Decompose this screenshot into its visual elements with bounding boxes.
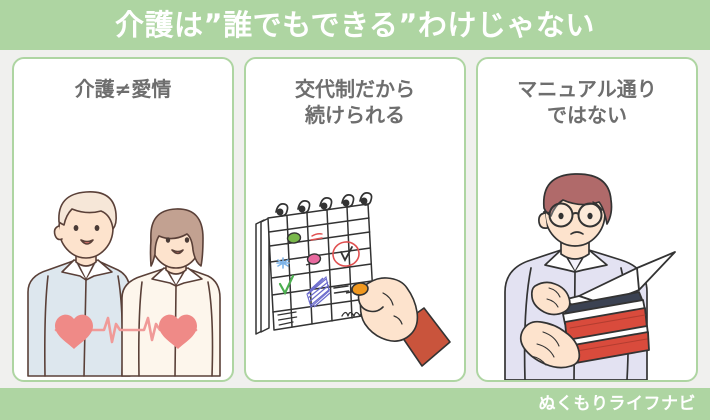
- footer-bar: ぬくもりライフナビ: [0, 388, 710, 420]
- card-title: マニュアル通り ではない: [511, 77, 662, 128]
- couple-with-hearts-ecg-illustration: [18, 180, 228, 380]
- card-illustration-man-books: [478, 128, 696, 380]
- brand-name: ぬくもりライフナビ: [539, 396, 697, 413]
- card-title: 交代制だから 続けられる: [289, 77, 421, 128]
- page-title: 介護は”誰でもできる”わけじゃない: [115, 11, 595, 40]
- man-with-glasses-holding-books-illustration: [487, 168, 687, 380]
- cards-row: 介護≠愛情: [0, 50, 710, 388]
- card-illustration-calendar: [246, 128, 464, 380]
- card-caregiving-not-love: 介護≠愛情: [12, 57, 234, 382]
- poster-root: 介護は”誰でもできる”わけじゃない 介護≠愛情: [0, 0, 710, 420]
- card-shift-system: 交代制だから 続けられる: [244, 57, 466, 382]
- header-banner: 介護は”誰でもできる”わけじゃない: [0, 0, 710, 50]
- card-illustration-couple: [14, 103, 232, 380]
- card-not-by-the-manual: マニュアル通り ではない: [476, 57, 698, 382]
- card-title: 介護≠愛情: [69, 77, 178, 103]
- calendar-with-pins-and-hand-illustration: [250, 190, 460, 380]
